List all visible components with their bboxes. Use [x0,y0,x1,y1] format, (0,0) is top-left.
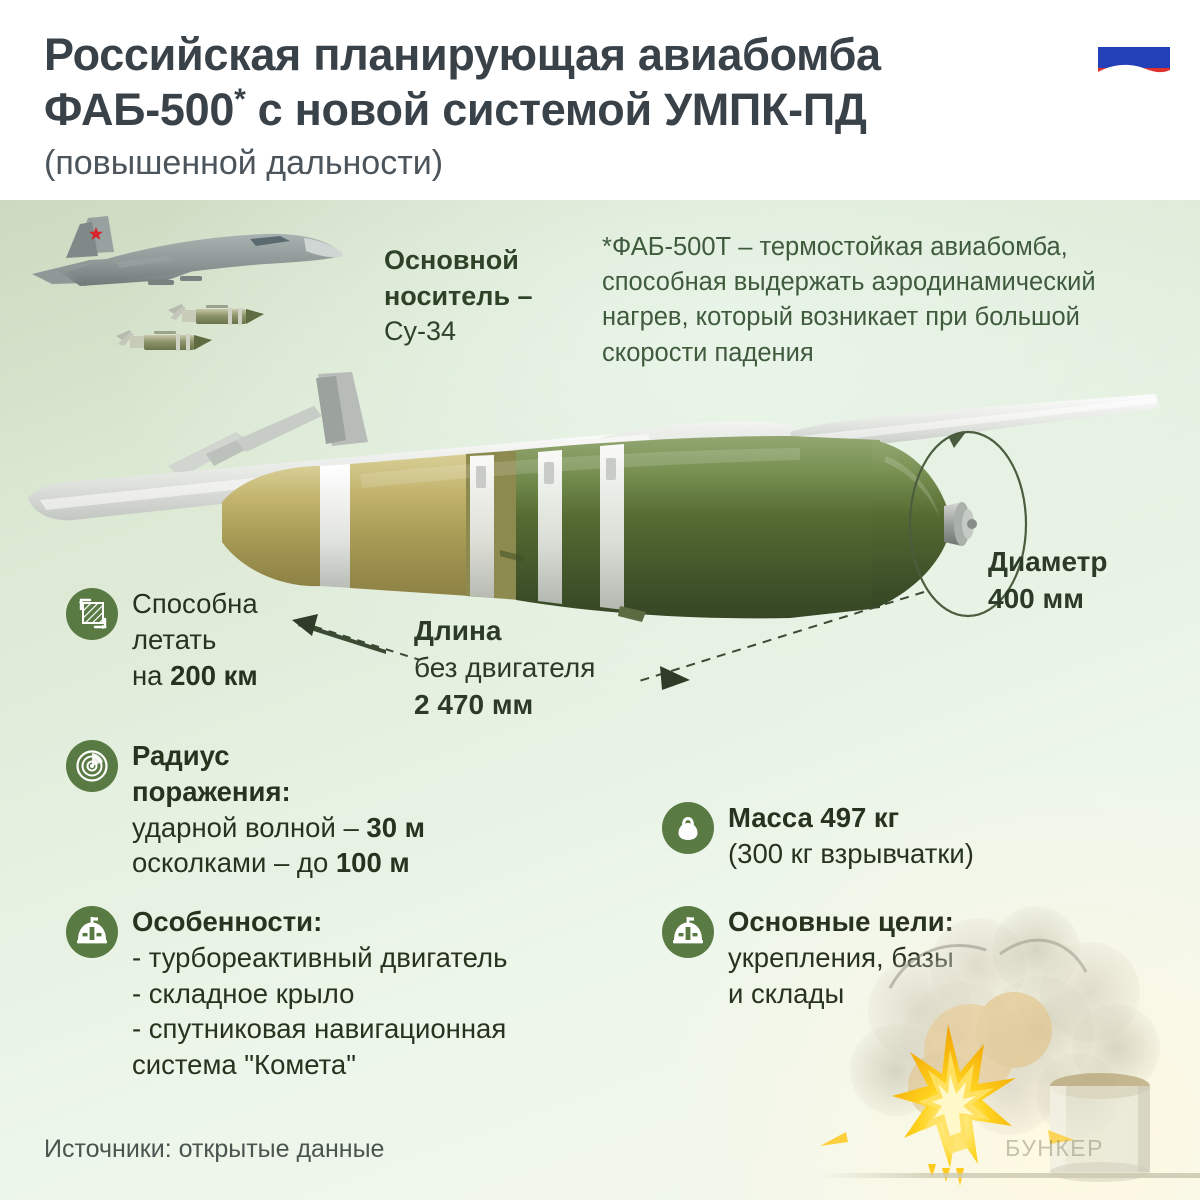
watermark-label: БУНКЕР [1005,1135,1104,1162]
header: Российская планирующая авиабомба ФАБ-500… [0,0,1200,200]
footnote-text: *ФАБ-500Т – термостойкая авиабомба, спос… [602,230,1157,371]
carrier-label-value: Су-34 [384,316,456,346]
stat-range: Способна летать на 200 км [66,586,366,693]
stat-mass: Масса 497 кг (300 кг взрывчатки) [662,800,1082,872]
stat-mass-text: Масса 497 кг (300 кг взрывчатки) [728,800,974,872]
stat-blast-wave-value: 30 м [366,812,425,843]
su-34-jet-icon [28,208,358,358]
title-asterisk: * [234,83,245,116]
feature-item-1: - турбореактивный двигатель [132,940,507,976]
stat-features-text: Особенности: - турбореактивный двигатель… [132,904,507,1083]
infographic-page: Российская планирующая авиабомба ФАБ-500… [0,0,1200,1200]
stat-range-line-2: летать [132,622,258,658]
stat-blast-radius-text: Радиус поражения: ударной волной – 30 м … [132,738,425,881]
page-title: Российская планирующая авиабомба ФАБ-500… [44,28,1094,138]
page-subtitle: (повышенной дальности) [44,144,1160,183]
diameter-dimension-label: Диаметр 400 мм [988,543,1107,617]
stat-range-text: Способна летать на 200 км [132,586,258,693]
stat-features-header: Особенности: [132,904,507,940]
feature-item-3: - спутниковая навигационная [132,1011,507,1047]
stat-mass-line-1: Масса 497 кг [728,800,974,836]
blast-radar-icon [66,740,118,792]
ground-line [820,1173,1200,1178]
explosion-illustration [800,880,1200,1200]
stat-blast-radius: Радиус поражения: ударной волной – 30 м … [66,738,496,881]
length-line-3: 2 470 мм [414,686,595,723]
title-line-1: Российская планирующая авиабомба [44,29,881,80]
feature-item-4: система "Комета" [132,1047,507,1083]
length-line-2: без двигателя [414,649,595,686]
sources-text: Источники: открытые данные [44,1135,384,1164]
length-line-1: Длина [414,612,595,649]
stat-fragments-value: 100 м [336,847,410,878]
stat-blast-wave-label: ударной волной – [132,812,366,843]
weight-icon [662,802,714,854]
bunker-icon [662,906,714,958]
stat-range-line-1: Способна [132,586,258,622]
stat-mass-line-2: (300 кг взрывчатки) [728,836,974,872]
diameter-line-2: 400 мм [988,580,1107,617]
carrier-label-bold: Основной носитель – [384,245,533,311]
title-line-2-prefix: ФАБ-500 [44,84,234,135]
stat-features: Особенности: - турбореактивный двигатель… [66,904,626,1083]
range-area-icon [66,588,118,640]
diameter-line-1: Диаметр [988,543,1107,580]
stat-blast-radius-header-1: Радиус [132,738,425,774]
bunker-icon [66,906,118,958]
stat-fragments-label: осколками – до [132,847,336,878]
stat-range-line-3-prefix: на [132,660,170,691]
russian-flag-icon [1094,26,1172,88]
stat-range-value: 200 км [170,660,258,691]
feature-item-2: - складное крыло [132,976,507,1012]
length-dimension-label: Длина без двигателя 2 470 мм [414,612,595,724]
stat-blast-radius-header-2: поражения: [132,774,425,810]
carrier-label: Основной носитель – Су-34 [384,243,594,350]
title-line-2-suffix: с новой системой УМПК-ПД [245,84,866,135]
